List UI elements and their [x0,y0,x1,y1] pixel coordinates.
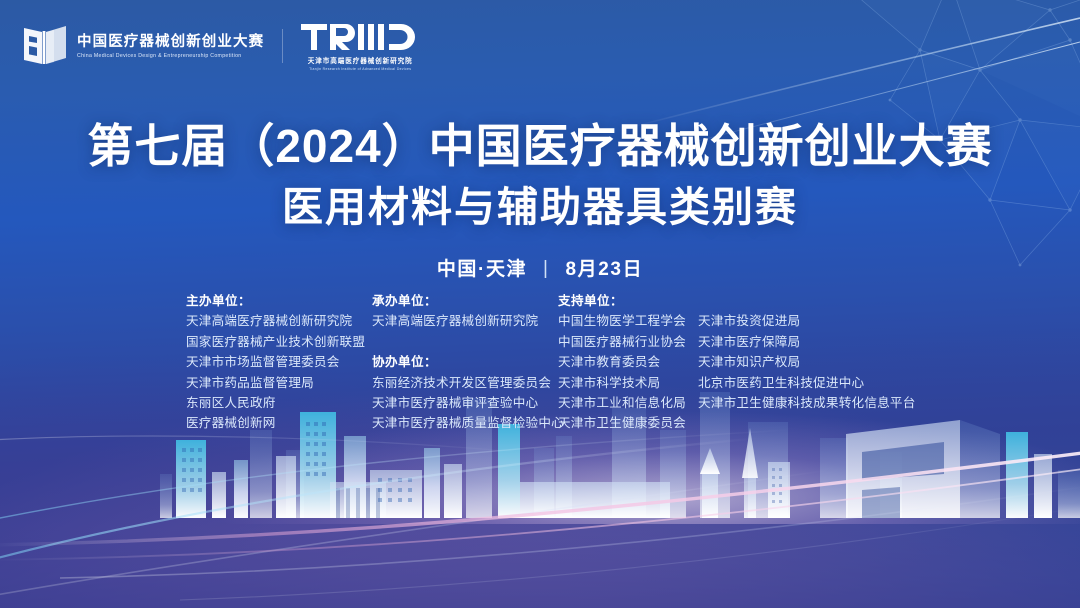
list-item: 天津市教育委员会 [558,352,698,372]
event-poster: 中国医疗器械创新创业大赛 China Medical Devices Desig… [0,0,1080,608]
trimd-wordmark-icon [301,22,419,52]
list-item: 天津市科学技术局 [558,373,698,393]
organizers-column-supporters-b: 天津市投资促进局 天津市医疗保障局 天津市知识产权局 北京市医药卫生科技促进中心… [698,291,908,413]
venue-date-line: 中国·天津 | 8月23日 [0,254,1080,281]
list-item: 天津市医疗器械审评查验中心 [372,393,558,413]
venue-text: 中国·天津 [437,259,527,280]
competition-logo-cn: 中国医疗器械创新创业大赛 [77,33,264,51]
competition-logo: 中国医疗器械创新创业大赛 China Medical Devices Desig… [22,24,264,68]
logo-bar: 中国医疗器械创新创业大赛 China Medical Devices Desig… [22,22,419,71]
main-title-line2: 医用材料与辅助器具类别赛 [0,182,1080,232]
list-item: 天津市工业和信息化局 [558,393,698,413]
list-item: 北京市医药卫生科技促进中心 [698,373,908,393]
date-text: 8月23日 [565,259,643,280]
venue-date-separator: | [543,258,550,280]
list-item: 天津市药品监督管理局 [186,373,372,393]
list-item: 天津市卫生健康科技成果转化信息平台 [698,393,908,413]
bottom-fade-overlay [0,528,1080,608]
open-book-mark-icon [22,24,68,68]
list-item: 中国生物医学工程学会 [558,311,698,331]
list-item: 中国医疗器械行业协会 [558,332,698,352]
coorganizer-heading: 协办单位： [372,352,558,372]
organizers-block: 主办单位： 天津高端医疗器械创新研究院 国家医疗器械产业技术创新联盟 天津市市场… [186,291,908,434]
list-item: 天津市医疗保障局 [698,332,908,352]
list-item: 国家医疗器械产业技术创新联盟 [186,332,372,352]
list-item: 天津市医疗器械质量监督检验中心 [372,413,558,433]
host-heading: 主办单位： [186,291,372,311]
competition-logo-en: China Medical Devices Design & Entrepren… [77,53,264,59]
supporters-heading: 支持单位： [558,291,698,311]
list-item: 天津高端医疗器械创新研究院 [186,311,372,331]
list-item: 天津市卫生健康委员会 [558,413,698,433]
list-item: 医疗器械创新网 [186,413,372,433]
list-item: 天津市知识产权局 [698,352,908,372]
list-item: 天津市市场监督管理委员会 [186,352,372,372]
column-spacer [372,332,558,352]
organizers-column-supporters-a: 支持单位： 中国生物医学工程学会 中国医疗器械行业协会 天津市教育委员会 天津市… [558,291,698,434]
organizers-column-undertaker: 承办单位： 天津高端医疗器械创新研究院 协办单位： 东丽经济技术开发区管理委员会… [372,291,558,434]
title-block: 第七届（2024）中国医疗器械创新创业大赛 医用材料与辅助器具类别赛 中国·天津… [0,118,1080,281]
institute-logo: 天津市高端医疗器械创新研究院 Tianjin Research Institut… [301,22,419,71]
list-item: 天津高端医疗器械创新研究院 [372,311,558,331]
logo-divider [282,29,283,63]
list-item: 天津市投资促进局 [698,311,908,331]
institute-logo-en: Tianjin Research Institute of Advanced M… [309,67,411,71]
column-spacer [698,291,908,311]
main-title-line1: 第七届（2024）中国医疗器械创新创业大赛 [0,118,1080,174]
organizers-column-host: 主办单位： 天津高端医疗器械创新研究院 国家医疗器械产业技术创新联盟 天津市市场… [186,291,372,434]
institute-logo-cn: 天津市高端医疗器械创新研究院 [308,55,413,65]
undertaker-heading: 承办单位： [372,291,558,311]
list-item: 东丽经济技术开发区管理委员会 [372,373,558,393]
list-item: 东丽区人民政府 [186,393,372,413]
